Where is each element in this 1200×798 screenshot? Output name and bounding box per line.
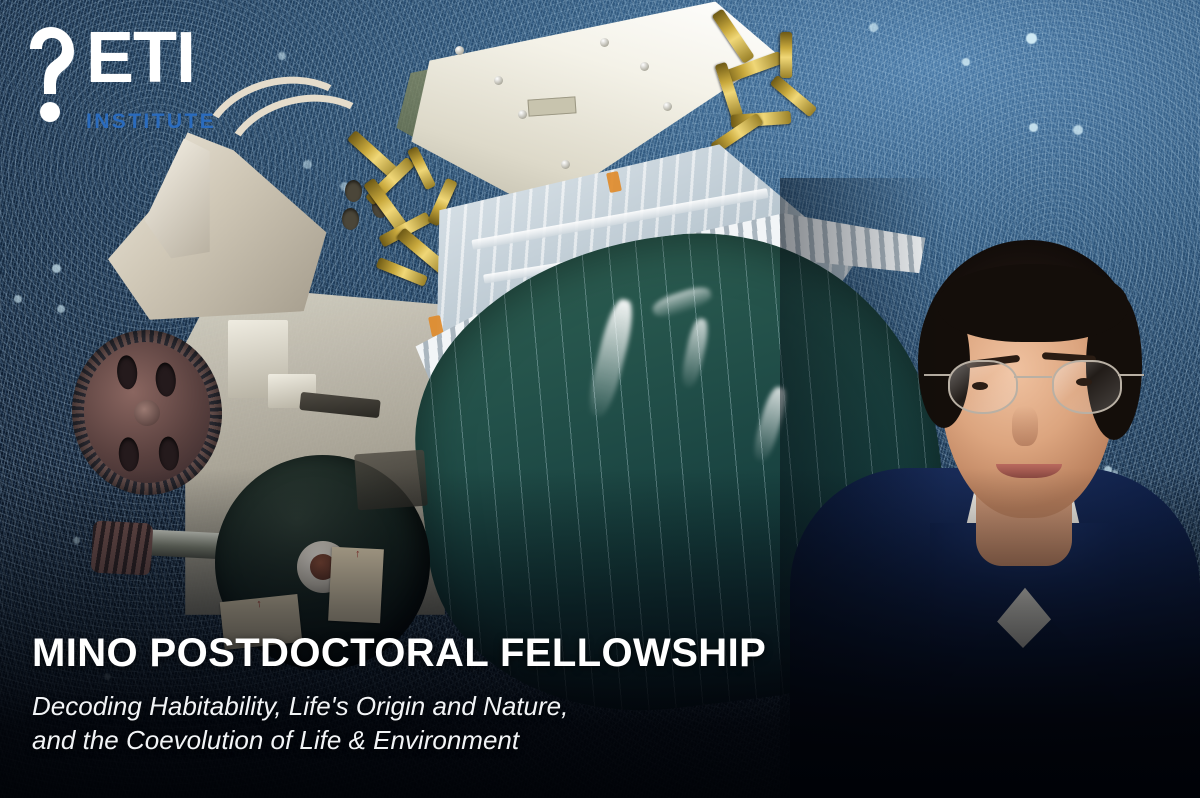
instrument-label <box>527 96 576 116</box>
promo-banner: ↑ ↑ MIN <box>0 0 1200 798</box>
subtitle-line-2: and the Coevolution of Life & Environmen… <box>32 723 862 758</box>
logo-subwordmark: INSTITUTE <box>86 110 216 134</box>
seti-institute-logo[interactable]: ETI INSTITUTE <box>28 22 228 132</box>
bokeh-dot <box>1029 123 1038 132</box>
rivet <box>640 62 649 71</box>
rivet <box>494 76 503 85</box>
rivet <box>561 160 570 169</box>
rivet <box>663 102 672 111</box>
rivet <box>600 38 609 47</box>
bokeh-dot <box>1026 33 1037 44</box>
bokeh-dot <box>962 58 970 66</box>
rivet <box>455 46 464 55</box>
subtitle-line-1: Decoding Habitability, Life's Origin and… <box>32 689 862 724</box>
seti-question-mark-icon <box>28 24 80 124</box>
rivet <box>518 110 527 119</box>
logo-wordmark: ETI <box>86 25 195 91</box>
page-subtitle: Decoding Habitability, Life's Origin and… <box>32 689 862 758</box>
bokeh-dot <box>1073 125 1083 135</box>
text-block: MINO POSTDOCTORAL FELLOWSHIP Decoding Ha… <box>32 633 862 758</box>
page-title: MINO POSTDOCTORAL FELLOWSHIP <box>32 633 862 673</box>
